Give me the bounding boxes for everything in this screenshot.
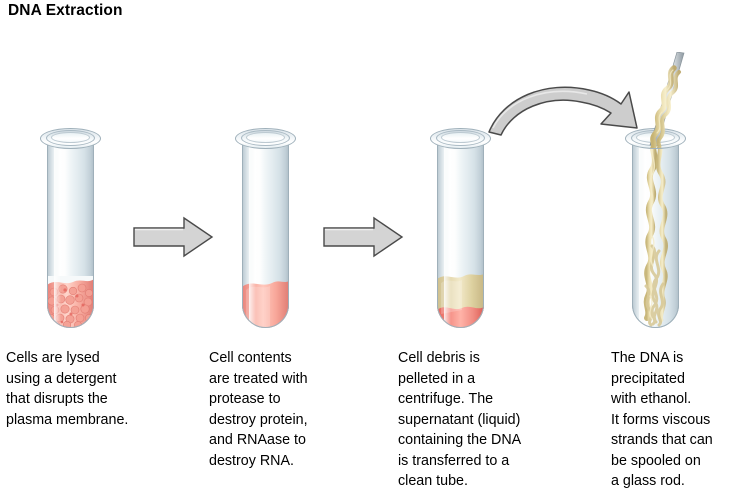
caption-step-1: Cells are lysed using a detergent that d… xyxy=(6,348,186,430)
spooled-dna-strands-inside xyxy=(632,136,679,328)
tube-lysed-cells xyxy=(47,136,94,328)
dna-extraction-figure: DNA Extraction xyxy=(0,0,735,487)
glass-highlight xyxy=(444,136,451,328)
arrow-step1-to-step2 xyxy=(132,215,214,259)
glass-highlight xyxy=(54,136,61,328)
tube-precipitated-dna xyxy=(632,136,679,328)
tube-body xyxy=(242,136,289,328)
arrow-step3-to-step4 xyxy=(485,76,650,136)
caption-step-3: Cell debris is pelleted in a centrifuge.… xyxy=(398,348,598,492)
glass-rod xyxy=(630,52,700,148)
tube-body xyxy=(632,136,679,328)
arrow-step2-to-step3 xyxy=(322,215,404,259)
glass-highlight xyxy=(249,136,256,328)
tube-centrifuged xyxy=(437,136,484,328)
tube-rim-hole xyxy=(246,132,285,143)
figure-title: DNA Extraction xyxy=(8,2,123,20)
tube-body xyxy=(437,136,484,328)
caption-step-4: The DNA is precipitated with ethanol. It… xyxy=(611,348,735,492)
tube-body xyxy=(47,136,94,328)
tube-rim-hole xyxy=(51,132,90,143)
tube-rim-hole xyxy=(441,132,480,143)
tube-treated-contents xyxy=(242,136,289,328)
caption-step-2: Cell contents are treated with protease … xyxy=(209,348,389,471)
